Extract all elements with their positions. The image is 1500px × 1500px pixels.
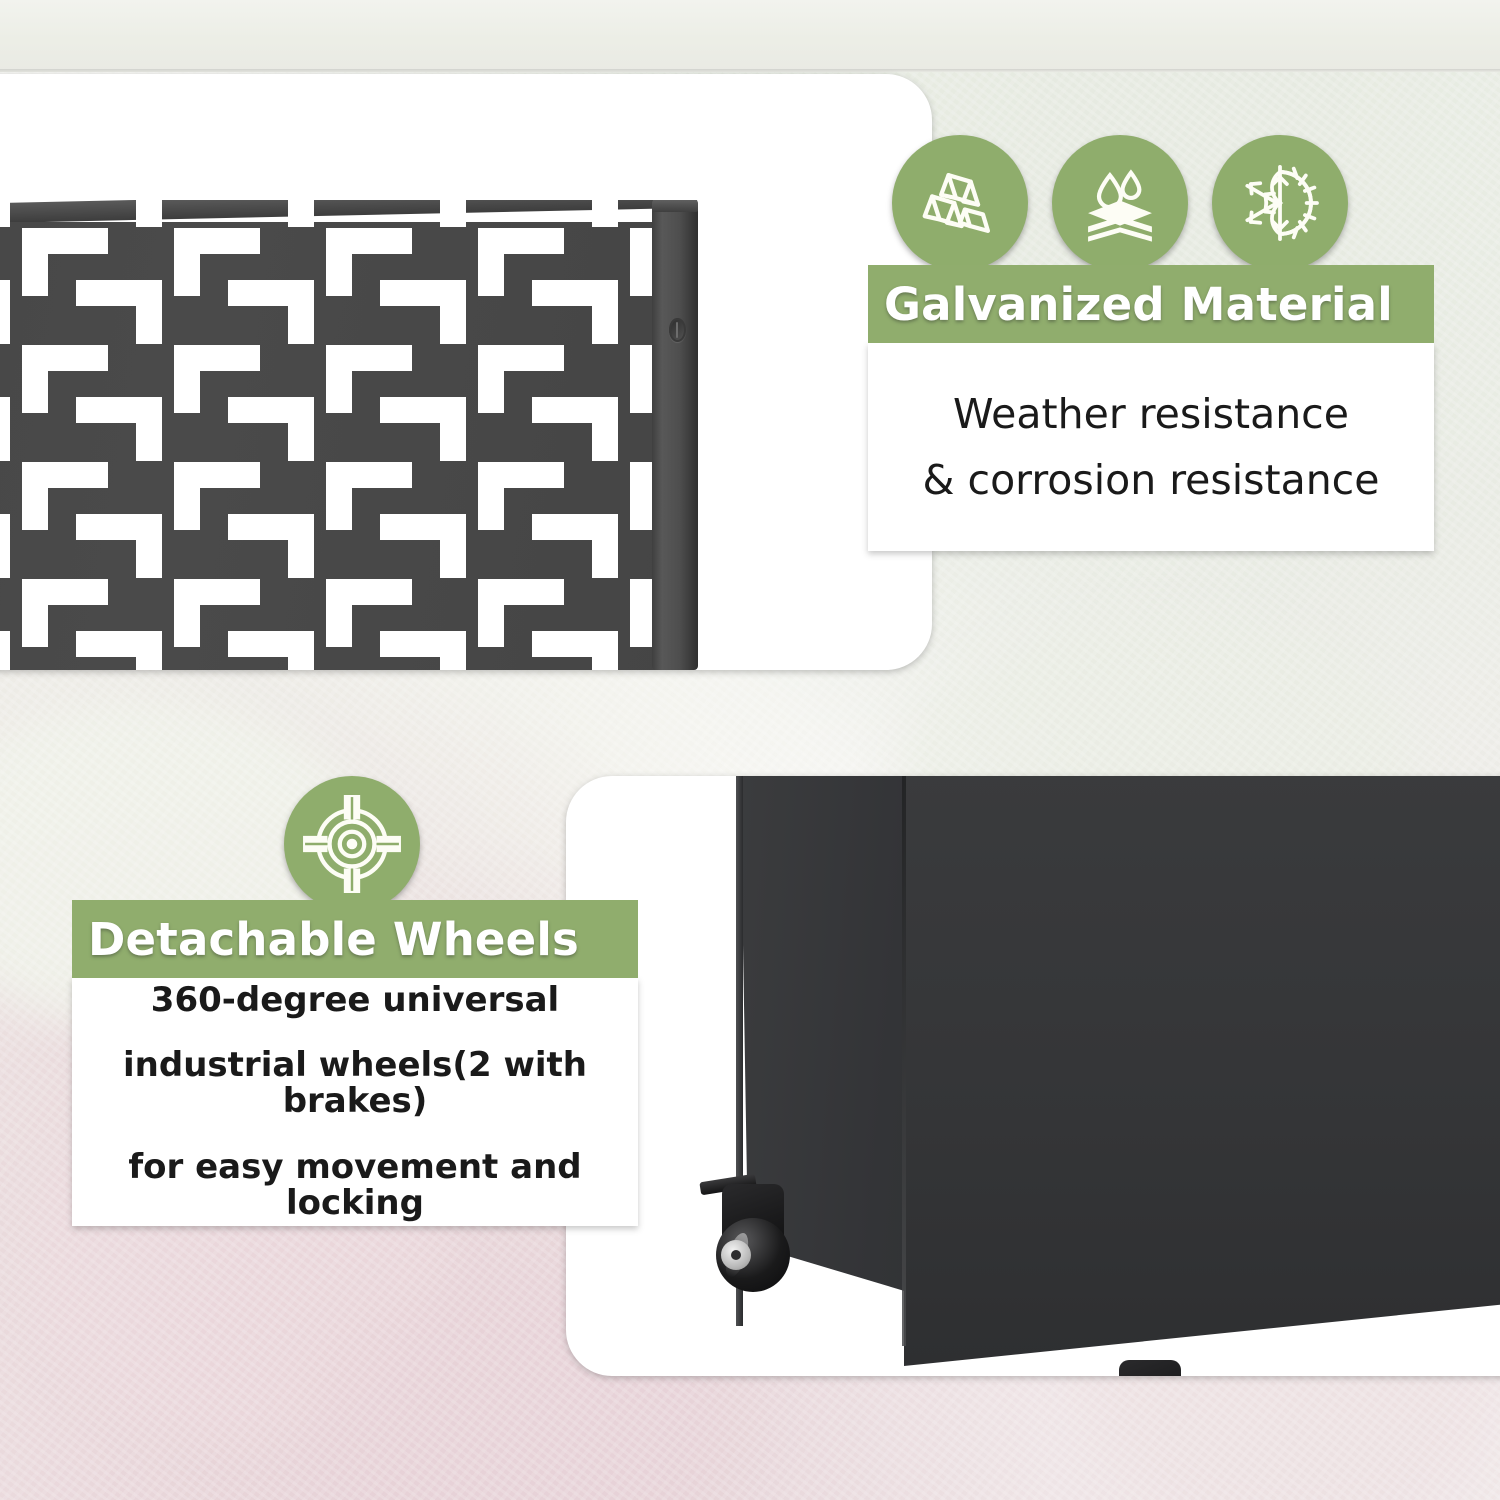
wheels-line-2: industrial wheels(2 with brakes): [72, 1048, 638, 1119]
panel-cutout: [174, 579, 200, 647]
panel-side-post: [652, 200, 698, 670]
panel-cutout: [478, 345, 504, 413]
panel-cutout: [22, 462, 48, 530]
panel-cutout: [440, 280, 466, 344]
panel-cutout: [326, 579, 352, 647]
panel-cutout: [744, 631, 770, 670]
panel-cutout: [0, 200, 10, 227]
metal-ingots-icon: [892, 135, 1028, 271]
panel-cutout: [440, 631, 466, 670]
galvanized-title: Galvanized Material: [884, 278, 1393, 331]
caster-bracket: [1119, 1360, 1181, 1376]
galvanized-line-1: Weather resistance: [953, 381, 1349, 447]
panel-cutout: [174, 228, 200, 296]
cabinet-casters-photo: [566, 776, 1500, 1376]
panel-cutout: [288, 631, 314, 670]
galvanized-description: Weather resistance & corrosion resistanc…: [868, 343, 1434, 551]
wheels-line-3: for easy movement and locking: [72, 1150, 638, 1221]
galvanized-title-bar: Galvanized Material: [868, 265, 1434, 343]
panel-cutout: [744, 514, 770, 578]
cabinet-corner-seam: [902, 776, 906, 1346]
panel-cutout: [288, 514, 314, 578]
panel-cutout: [174, 345, 200, 413]
feature-galvanized-material: Galvanized Material Weather resistance &…: [868, 135, 1434, 551]
galvanized-icon-row: [892, 135, 1348, 271]
wheels-icon-row: [284, 776, 420, 912]
feature-detachable-wheels: Detachable Wheels 360-degree universal i…: [72, 776, 638, 1226]
panel-cutout: [592, 397, 618, 461]
panel-face: [0, 222, 680, 670]
panel-post-cap: [652, 200, 698, 212]
panel-cutout: [0, 280, 10, 344]
panel-cutout: [478, 462, 504, 530]
panel-cutout: [0, 514, 10, 578]
snowflake-sun-icon: [1212, 135, 1348, 271]
panel-cutout: [744, 200, 770, 227]
panel-cutout: [326, 462, 352, 530]
panel-cutout: [744, 397, 770, 461]
panel-cutout: [0, 631, 10, 670]
perforated-metal-panel-photo: [0, 200, 770, 670]
panel-cutout: [174, 462, 200, 530]
panel-cutout: [592, 514, 618, 578]
panel-cutout: [22, 345, 48, 413]
panel-cutout: [288, 397, 314, 461]
water-drops-layers-icon: [1052, 135, 1188, 271]
target-crosshair-icon: [284, 776, 420, 912]
panel-cutout: [136, 280, 162, 344]
panel-cutout: [136, 631, 162, 670]
panel-cutout: [326, 228, 352, 296]
wheels-title: Detachable Wheels: [88, 913, 579, 966]
panel-cutout: [440, 397, 466, 461]
panel-cutout: [136, 514, 162, 578]
panel-cutout: [326, 345, 352, 413]
cabinet-front-face: [904, 776, 1500, 1366]
panel-cutout: [22, 579, 48, 647]
infographic-canvas: Galvanized Material Weather resistance &…: [0, 0, 1500, 1500]
backdrop-sky-band: [0, 0, 1500, 72]
caster-hub-center: [731, 1250, 741, 1260]
panel-cutout: [0, 397, 10, 461]
panel-lock-icon: [669, 318, 686, 342]
panel-cutout: [478, 579, 504, 647]
wheels-line-1: 360-degree universal: [151, 983, 559, 1019]
panel-cutout: [592, 280, 618, 344]
galvanized-line-2: & corrosion resistance: [923, 447, 1380, 513]
panel-cutout: [744, 280, 770, 344]
panel-cutout: [136, 397, 162, 461]
panel-cutout: [478, 228, 504, 296]
wheels-title-bar: Detachable Wheels: [72, 900, 638, 978]
panel-cutout: [440, 514, 466, 578]
panel-cutout: [136, 200, 162, 227]
panel-cutout: [440, 200, 466, 227]
panel-cutout: [288, 280, 314, 344]
panel-cutout: [592, 631, 618, 670]
wheels-description: 360-degree universal industrial wheels(2…: [72, 978, 638, 1226]
panel-cutout: [288, 200, 314, 227]
panel-cutout: [592, 200, 618, 227]
panel-cutout: [22, 228, 48, 296]
